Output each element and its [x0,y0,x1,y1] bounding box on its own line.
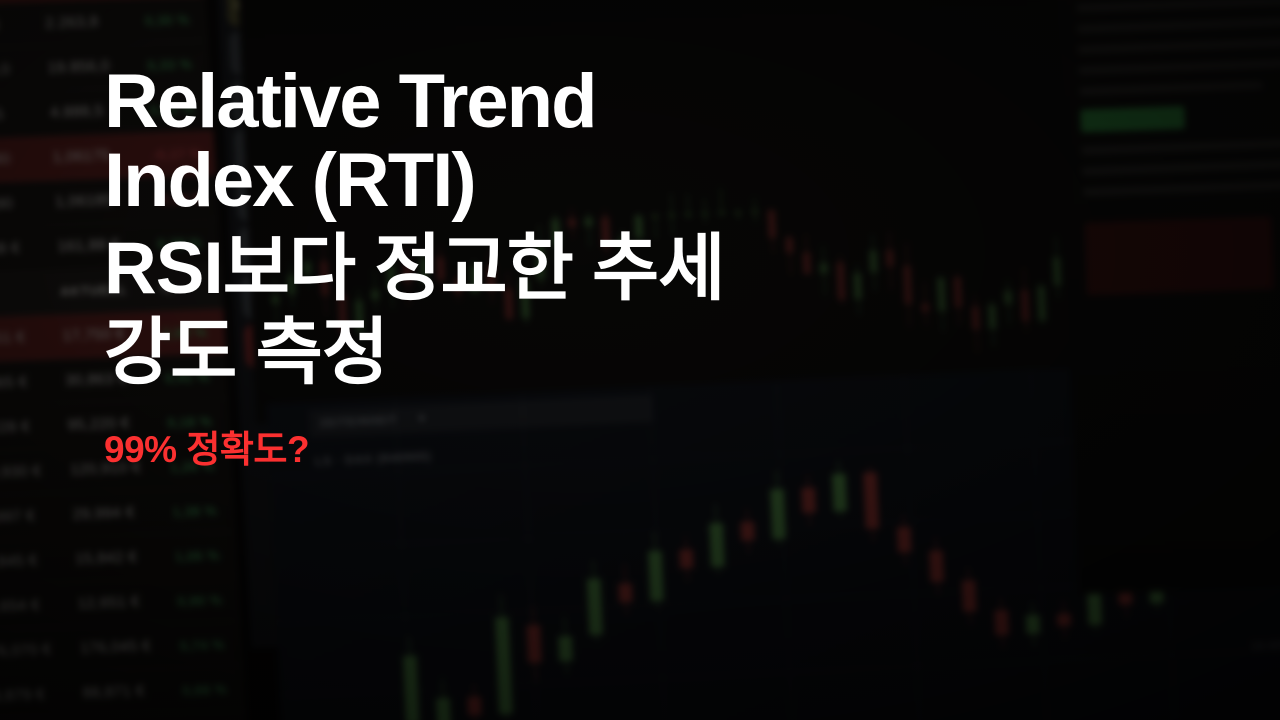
quote-change-pct: 0,68 % [182,680,245,698]
candle-body [527,625,542,663]
quote-cell: 1,06190 [0,194,56,214]
quote-cell: 17,751 € [0,328,63,348]
quote-cell: 1,06180 [0,149,53,169]
candle-body [1026,615,1040,634]
headline-line-1: Relative Trend [104,66,1204,139]
news-text-line [1077,0,1280,12]
quote-change-pct: 0,90 % [177,591,240,609]
quote-cell: 176,045 € [80,637,181,657]
candle-body [436,698,451,720]
candle-body [403,656,420,720]
candle-body [801,488,816,514]
quote-cell: 15,845 € [0,551,76,571]
candle-body [648,551,664,601]
candle-body [962,580,977,612]
candle-body [1118,592,1132,605]
quote-cell: 120,930 € [0,462,71,482]
quote-cell: 2.263,8 [0,16,46,36]
candle-body [709,523,724,567]
candle-body [770,489,786,539]
candle-body [679,549,693,568]
quote-cell: 15,842 € [75,548,176,568]
candle-body [587,578,603,635]
quote-cell: 12,651 € [77,593,178,613]
headline-line-3: RSI보다 정교한 추세 [104,232,1204,306]
candle-body [495,617,513,714]
quote-cell: 88,871 € [82,682,183,702]
quote-cell: 176,070 € [0,641,81,661]
candle-body [740,522,754,541]
candle-body [1057,613,1071,626]
quote-change-pct: 1,38 % [172,502,235,520]
news-text-line [1077,15,1280,32]
headline-line-2: Index (RTI) [104,145,1204,218]
quote-change-pct: 0,30 % [145,10,208,28]
quote-cell: 161,88 € [0,239,58,259]
quote-cell: 12,654 € [0,596,78,616]
youtube-thumbnail: 11.264,511.264,511.264,50,78 %,061791,06… [0,0,1280,720]
column-header: ASK [0,284,61,302]
quote-cell: 2.263,8 [45,12,146,32]
quote-cell: 29,994 € [72,503,173,523]
quote-cell: 4.888,5 [0,105,51,125]
candle-body [832,474,847,512]
subheadline: 99% 정확도? [104,419,1204,473]
quote-cell: 88,879 € [0,685,83,705]
quote-change-pct: 0,74 % [179,636,242,654]
news-text-line [1078,39,1280,54]
candle-body [994,610,1009,636]
y-axis-price-label: 19.600 [1250,639,1280,653]
quote-cell: 30,865 € [0,373,66,393]
candle-body [1087,593,1102,625]
candle-body [897,527,912,553]
candle-body [558,636,573,662]
quote-cell: 19.856,0 [0,60,48,80]
candle-body [929,550,944,582]
candle-body [467,696,481,715]
quote-change-pct: 1,06 % [174,546,237,564]
headline-line-4: 강도 측정 [104,316,1204,390]
candle-body [618,583,632,602]
quote-cell: 29,997 € [0,507,73,527]
quote-cell: 95,228 € [0,417,68,437]
candle-body [863,472,879,529]
thumbnail-text-block: Relative Trend Index (RTI) RSI보다 정교한 추세 … [104,66,1204,473]
